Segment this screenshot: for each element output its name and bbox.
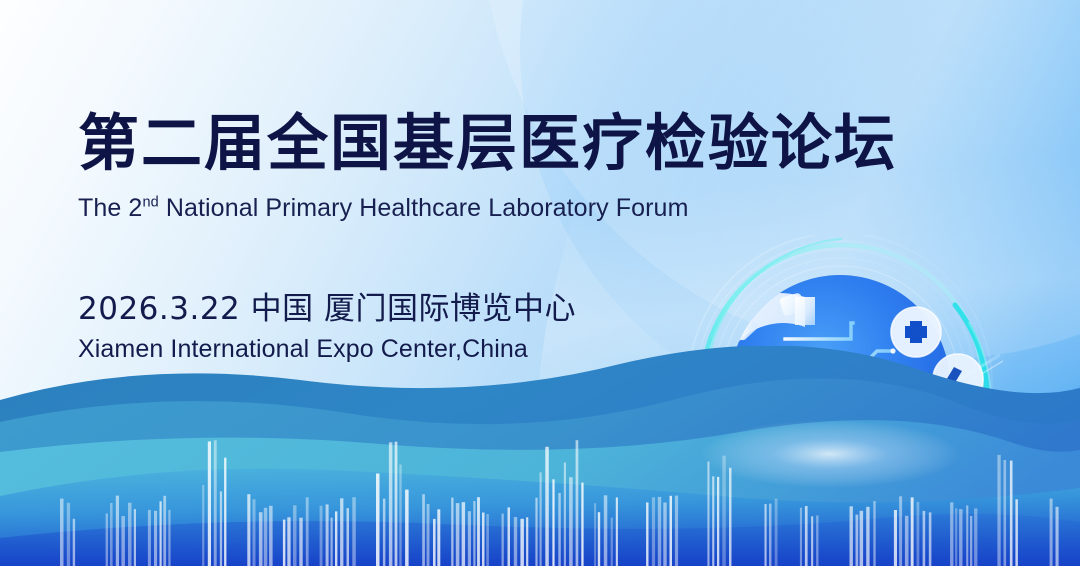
title-en-ordinal: nd: [142, 194, 158, 210]
title-en-post: National Primary Healthcare Laboratory F…: [159, 194, 689, 222]
page-title-cn: 第二届全国基层医疗检验论坛: [78, 112, 897, 177]
date-venue-cn: 2026.3.22 中国 厦门国际博览中心: [78, 283, 576, 328]
title-block: 第二届全国基层医疗检验论坛 The 2nd National Primary H…: [78, 112, 897, 223]
title-en-pre: The 2: [78, 194, 142, 222]
event-poster: 第二届全国基层医疗检验论坛 The 2nd National Primary H…: [0, 0, 1080, 566]
page-title-en: The 2nd National Primary Healthcare Labo…: [78, 193, 897, 223]
event-meta-block: 2026.3.22 中国 厦门国际博览中心 Xiamen Internation…: [78, 283, 576, 364]
emblem-base-glow: [700, 420, 960, 488]
venue-en: Xiamen International Expo Center,China: [78, 335, 576, 364]
wave-decoration: [0, 346, 1080, 566]
